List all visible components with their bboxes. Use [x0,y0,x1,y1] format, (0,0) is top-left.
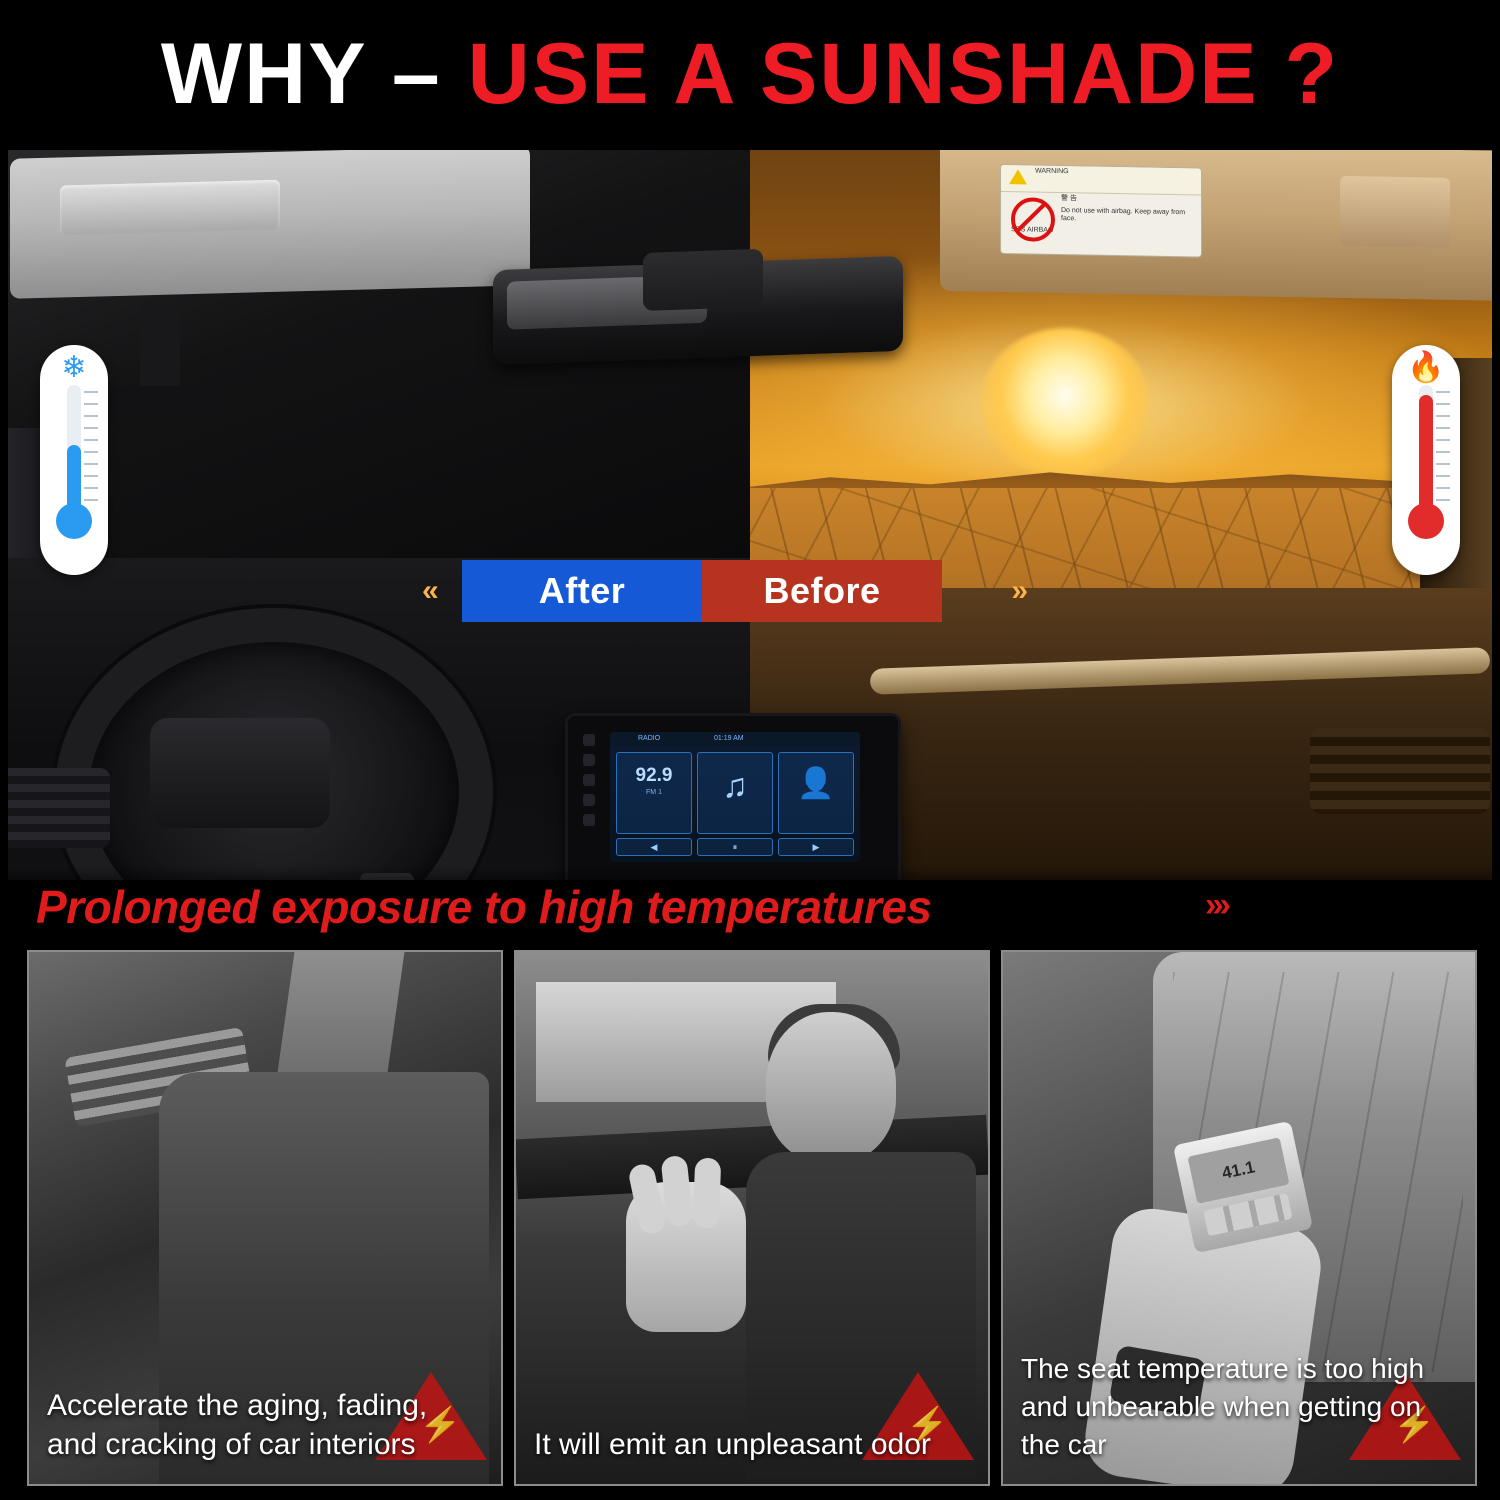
snowflake-icon: ❄ [40,353,108,383]
visor-panel-right [1340,176,1450,248]
person-head [766,1012,896,1162]
person-icon: 👤 [779,767,853,801]
before-after-labels: « After Before » [462,560,982,622]
status-clock: 01:19 AM [714,732,744,746]
warning-label-header: WARNING [1001,165,1201,195]
sun-visor-unshaded: WARNING 警 告 Do not use with airbag. Keep… [940,141,1500,301]
steering-wheel-hub [150,718,330,828]
panel-seat-temp: 41.1 ⚡ The seat temperature is too high … [1001,950,1477,1486]
thermometer-tube-hot [1419,385,1433,515]
panel-aging-caption: Accelerate the aging, fading, and cracki… [29,1370,501,1484]
radio-frequency: 92.9 [617,765,691,787]
thermometer-tube-cold [67,385,81,515]
air-vent-right [1310,728,1490,814]
title-phrase-use-sunshade: USE A SUNSHADE ? [468,26,1339,122]
panel-seat-temp-caption: The seat temperature is too high and unb… [1003,1334,1475,1484]
side-button-4[interactable] [583,794,595,806]
chevron-right-icon: » [1011,574,1028,608]
play-pause-button[interactable]: ⏸ [697,838,773,856]
warning-label-line2: Do not use with airbag. Keep away from f… [1057,205,1201,228]
banner-arrows-icon: ››› [1205,886,1227,925]
airbag-warning-label: WARNING 警 告 Do not use with airbag. Keep… [1000,164,1202,258]
benefits-panel-row: ⚡ Accelerate the aging, fading, and crac… [0,940,1500,1500]
side-button-3[interactable] [583,774,595,786]
mirror-camera-pod [643,249,763,311]
banner-headline: Prolonged exposure to high temperatures [36,880,932,934]
panel-odor-caption: It will emit an unpleasant odor [516,1409,988,1484]
air-vent-left [0,768,110,848]
side-button-2[interactable] [583,754,595,766]
thermometer-ticks-cold [84,391,98,511]
visor-panel [60,180,280,236]
promo-image-root: WHY – USE A SUNSHADE ? [0,0,1500,1500]
thermometer-cold: ❄ [40,345,108,575]
infotainment-head-unit[interactable]: RADIO 01:19 AM 92.9 FM 1 ♫ 👤 [565,713,901,880]
rearview-mirror [493,256,903,365]
music-note-icon: ♫ [698,769,772,803]
sun-visor-shaded [10,145,530,299]
thermometer-ticks-hot [1436,391,1450,511]
radio-band: FM 1 [617,789,691,796]
finger-3 [693,1158,721,1229]
panel-odor: ⚡ It will emit an unpleasant odor [514,950,990,1486]
thermometer-bulb-hot [1408,503,1444,539]
next-button[interactable]: ▶ [778,838,854,856]
head-unit-tiles: 92.9 FM 1 ♫ 👤 [616,752,854,834]
thermometer-reading: 41.1 [1188,1137,1290,1203]
previous-button[interactable]: ◀ [616,838,692,856]
tile-profile[interactable]: 👤 [778,752,854,834]
head-unit-transport-buttons[interactable]: ◀ ⏸ ▶ [616,838,854,856]
thermometer-bulb-cold [56,503,92,539]
head-unit-screen[interactable]: RADIO 01:19 AM 92.9 FM 1 ♫ 👤 [610,732,860,862]
title-dash: – [392,26,442,122]
tile-media[interactable]: ♫ [697,752,773,834]
header-bar: WHY – USE A SUNSHADE ? [0,0,1500,150]
panel-aging: ⚡ Accelerate the aging, fading, and crac… [27,950,503,1486]
tile-radio[interactable]: 92.9 FM 1 [616,752,692,834]
head-unit-side-buttons[interactable] [578,734,600,858]
label-after: After [462,560,702,622]
warning-label-title: WARNING [1001,165,1201,180]
side-button-1[interactable] [583,734,595,746]
hero-comparison: WARNING 警 告 Do not use with airbag. Keep… [0,128,1500,880]
thermometer-fill-hot [1419,395,1433,515]
head-unit-base [110,386,220,410]
flame-icon: 🔥 [1392,353,1460,383]
status-brand: RADIO [638,732,660,746]
head-unit-status-bar: RADIO 01:19 AM [610,732,860,746]
head-unit-stand [140,303,180,398]
side-button-5[interactable] [583,814,595,826]
no-child-seat-icon [1011,197,1055,242]
warning-triangle-icon [1009,169,1027,184]
chevron-left-icon: « [422,574,439,608]
title-word-why: WHY [161,26,366,122]
thermometer-hot: 🔥 [1392,345,1460,575]
label-before: Before [702,560,942,622]
page-title: WHY – USE A SUNSHADE ? [0,26,1500,122]
sun-disc [980,328,1150,478]
